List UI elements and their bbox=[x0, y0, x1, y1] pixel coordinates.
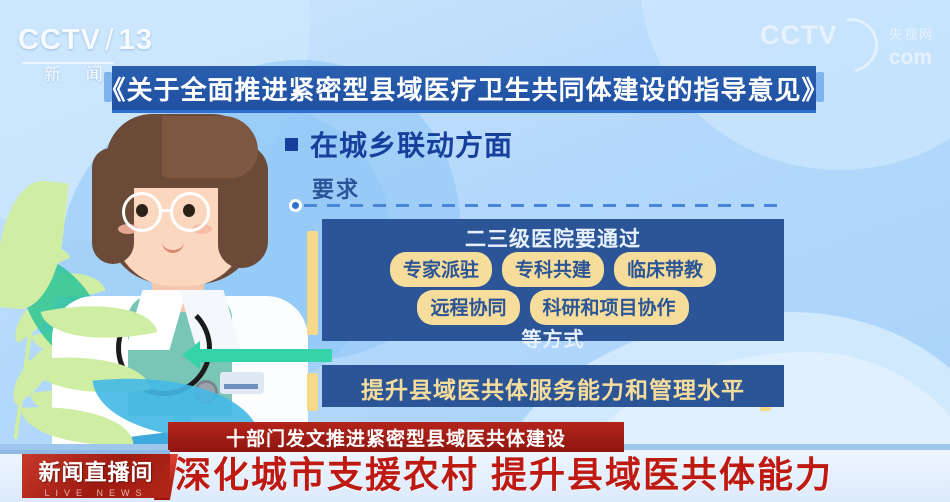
pill-row-1: 专家派驻 专科共建 临床带教 bbox=[322, 252, 784, 287]
program-name-cn: 新闻直播间 bbox=[38, 455, 153, 487]
section-subtitle: 在城乡联动方面 bbox=[285, 124, 513, 164]
method-pill: 科研和项目协作 bbox=[530, 290, 689, 325]
method-pill: 专科共建 bbox=[502, 252, 604, 287]
eye-right bbox=[183, 204, 195, 217]
glasses-bridge bbox=[161, 209, 173, 212]
logo-slash-icon: / bbox=[105, 22, 115, 58]
content-box-footer: 等方式 bbox=[322, 323, 784, 352]
green-arrow-shaft bbox=[190, 349, 332, 362]
broadcast-screenshot: CCTV / 13 新 闻 CCTV 央视网 com bbox=[0, 0, 950, 502]
requirement-label: 要求 bbox=[312, 172, 360, 204]
green-arrow-head-icon bbox=[182, 341, 200, 369]
method-pill: 专家派驻 bbox=[390, 252, 492, 287]
accent-bar-left-1 bbox=[307, 231, 318, 335]
channel-number: 13 bbox=[119, 24, 153, 57]
section-subtitle-text: 在城乡联动方面 bbox=[310, 124, 513, 164]
program-logo: 新闻直播间 LIVE NEWS bbox=[22, 454, 170, 498]
content-box-outcome: 提升县域医共体服务能力和管理水平 bbox=[322, 365, 784, 407]
watermark-com-text: com bbox=[889, 46, 932, 70]
cctv-wordmark: CCTV bbox=[18, 24, 101, 57]
watermark-cn-text: 央视网 bbox=[889, 24, 934, 43]
hair-bangs-highlight bbox=[162, 116, 258, 178]
method-pill: 远程协同 bbox=[417, 290, 519, 325]
id-badge bbox=[220, 372, 264, 394]
eye-left bbox=[136, 204, 148, 217]
bullet-square-icon bbox=[285, 138, 298, 151]
logo-underline bbox=[22, 62, 114, 64]
connector-dot-icon bbox=[289, 199, 302, 212]
method-pill: 临床带教 bbox=[614, 252, 716, 287]
content-box-methods: 二三级医院要通过 专家派驻 专科共建 临床带教 远程协同 科研和项目协作 等方式 bbox=[322, 219, 784, 341]
document-title-text: 《关于全面推进紧密型县域医疗卫生共同体建设的指导意见》 bbox=[100, 70, 829, 107]
lower-third-headline: 深化城市支援农村 提升县域医共体能力 bbox=[175, 446, 833, 498]
document-title-bar: 《关于全面推进紧密型县域医疗卫生共同体建设的指导意见》 bbox=[112, 66, 816, 110]
content-box-heading: 二三级医院要通过 bbox=[322, 223, 784, 253]
accent-bar-left-2 bbox=[307, 373, 318, 411]
pill-row-2: 远程协同 科研和项目协作 bbox=[322, 290, 784, 325]
content-box-outcome-text: 提升县域医共体服务能力和管理水平 bbox=[322, 371, 784, 405]
connector-dashed-line bbox=[304, 204, 784, 207]
program-name-en: LIVE NEWS bbox=[44, 488, 147, 498]
